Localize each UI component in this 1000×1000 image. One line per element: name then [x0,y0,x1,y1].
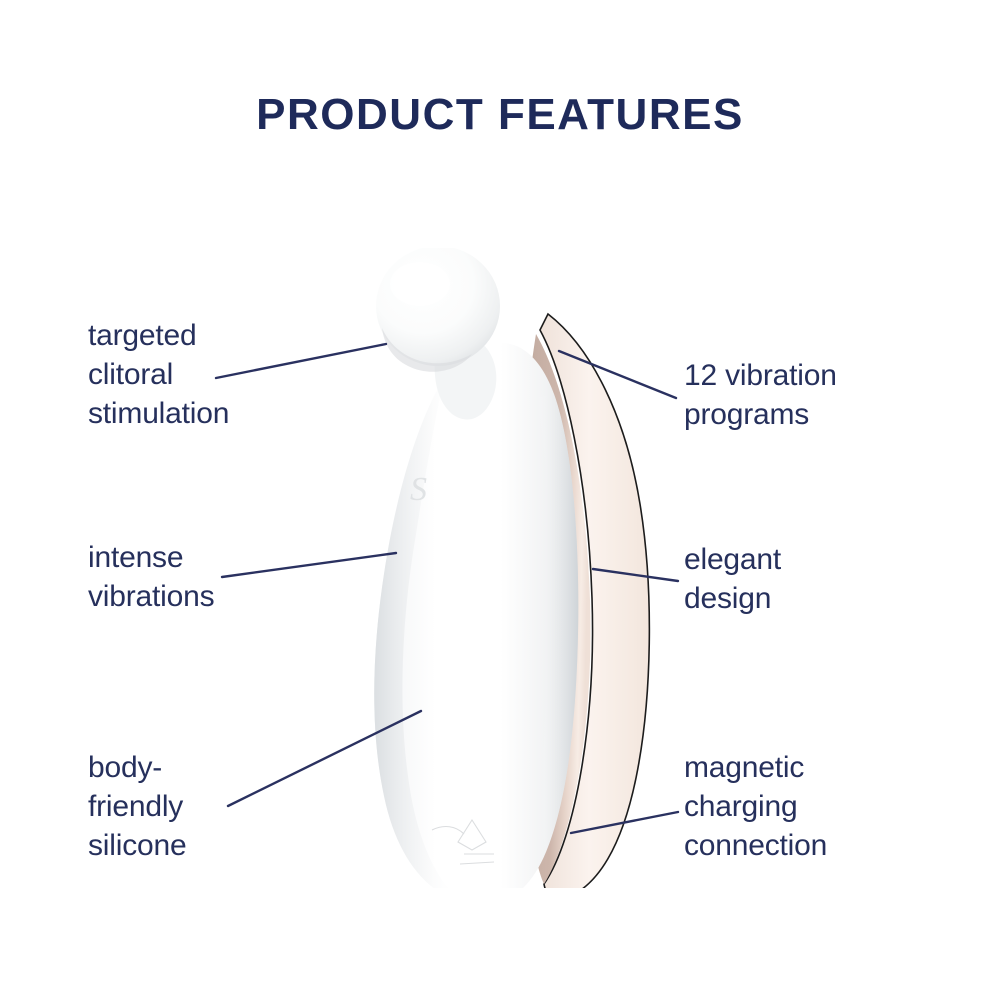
callout-label-12-vibration-programs: 12 vibration programs [684,356,837,434]
callout-label-targeted-clitoral-stimulation: targeted clitoral stimulation [88,316,229,433]
product-features-infographic: PRODUCT FEATURES [0,0,1000,1000]
callout-label-magnetic-charging-connection: magnetic charging connection [684,748,827,865]
page-title: PRODUCT FEATURES [0,92,1000,138]
callout-label-body-friendly-silicone: body- friendly silicone [88,748,186,865]
ball-specular-highlight [390,262,450,306]
brand-mark-icon: S [410,471,427,508]
product-image: S [340,248,680,888]
callout-label-intense-vibrations: intense vibrations [88,538,214,616]
callout-label-elegant-design: elegant design [684,540,781,618]
